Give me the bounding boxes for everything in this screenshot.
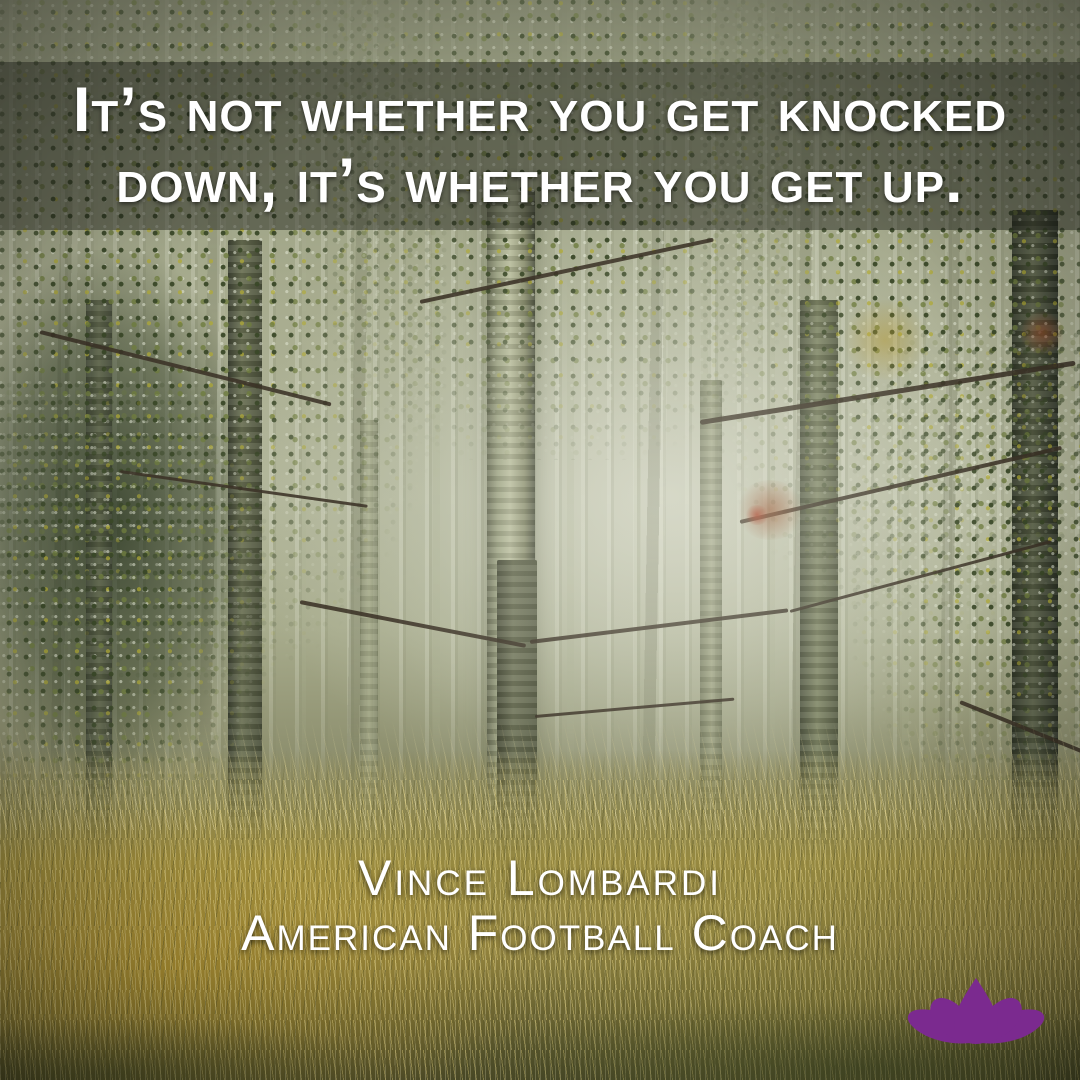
quote-line-1: It’s not whether you get knocked [73,75,1007,146]
attribution-block: Vince Lombardi American Football Coach [0,852,1080,959]
lotus-logo[interactable] [906,976,1046,1048]
quote-line-2: down, it’s whether you get up. [116,146,963,217]
quote-card: It’s not whether you get knocked down, i… [0,0,1080,1080]
author-role: American Football Coach [0,907,1080,960]
quote-banner: It’s not whether you get knocked down, i… [0,62,1080,230]
lotus-flower-icon [906,976,1046,1048]
author-name: Vince Lombardi [0,852,1080,905]
